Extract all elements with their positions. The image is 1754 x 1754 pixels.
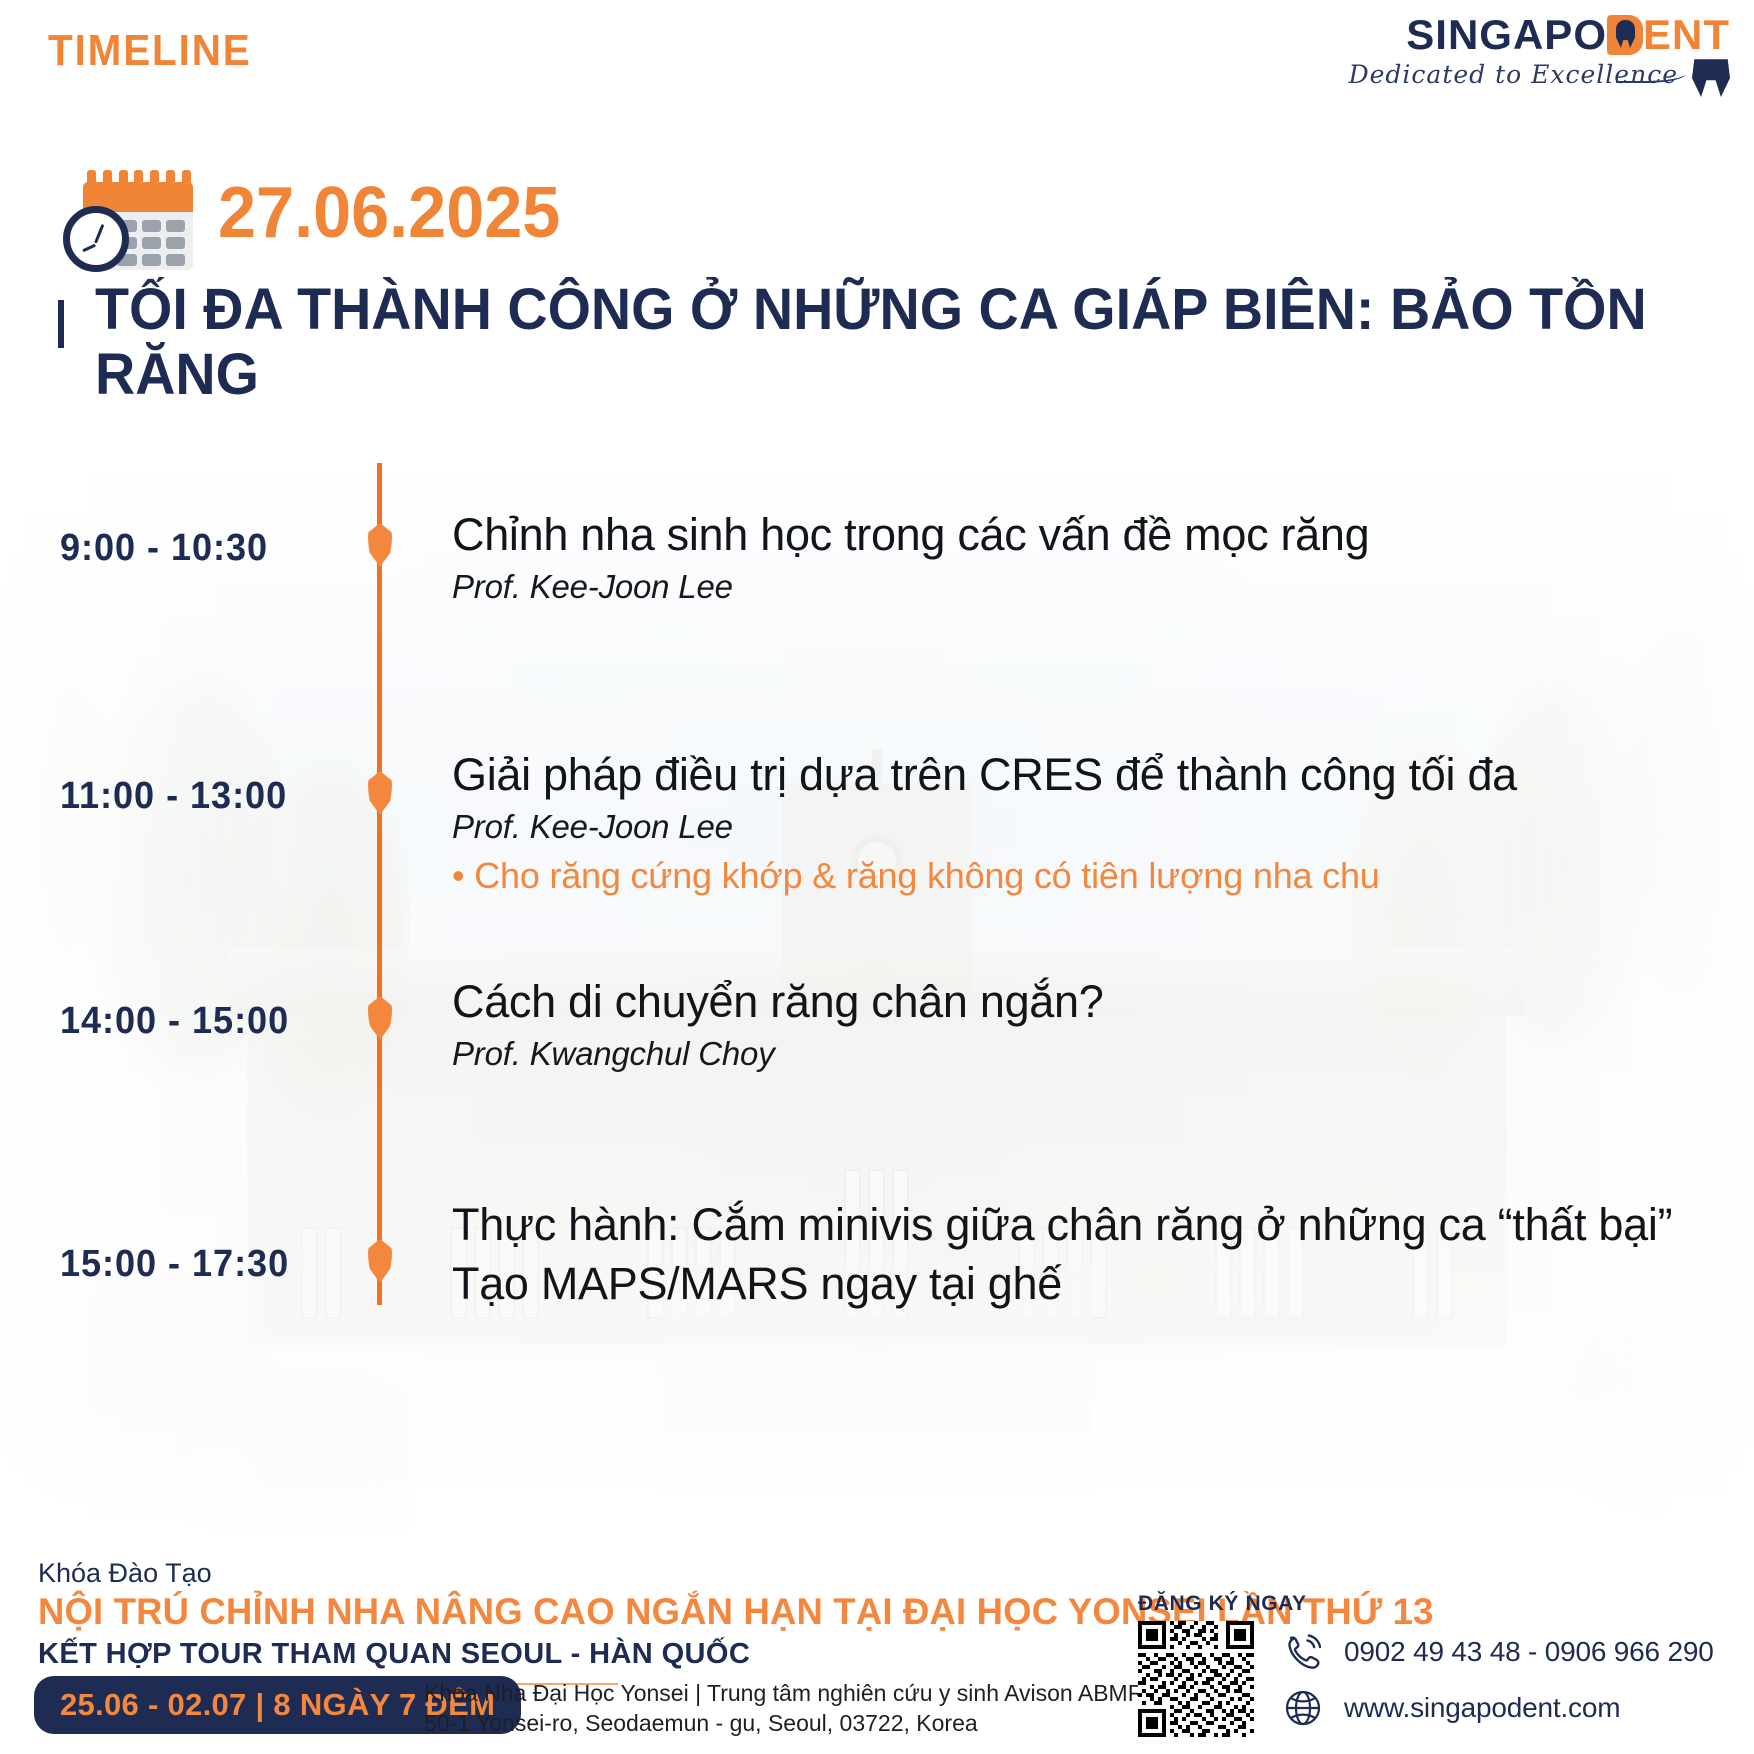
venue-address: Khoa Nha Đại Học Yonsei | Trung tâm nghi… [424, 1678, 1161, 1739]
timeline-content: Cách di chuyển răng chân ngắn? Prof. Kwa… [452, 972, 1722, 1076]
page-title: TỐI ĐA THÀNH CÔNG Ở NHỮNG CA GIÁP BIÊN: … [95, 278, 1650, 408]
qr-code-icon[interactable] [1138, 1621, 1254, 1737]
footer-kicker: Khóa Đào Tạo [38, 1558, 212, 1589]
contact-phone-row[interactable]: 0902 49 43 48 - 0906 966 290 [1280, 1624, 1714, 1680]
session-speaker: Prof. Kee-Joon Lee [452, 806, 1722, 849]
contact-website-row[interactable]: www.singapodent.com [1280, 1680, 1714, 1736]
logo-tagline-wrap: Dedicated to Excellence [1260, 60, 1730, 89]
phone-icon [1280, 1629, 1326, 1675]
session-note: • Cho răng cứng khớp & răng không có tiê… [452, 853, 1722, 900]
session-speaker: Prof. Kee-Joon Lee [452, 566, 1722, 609]
session-title: Cách di chuyển răng chân ngắn? [452, 972, 1722, 1031]
logo-name-dark: SINGAPO [1406, 11, 1607, 58]
brand-logo: SINGAPOENT Dedicated to Excellence [1260, 14, 1730, 89]
calendar-clock-icon [53, 168, 193, 273]
session-title: Chỉnh nha sinh học trong các vấn đề mọc … [452, 505, 1722, 564]
logo-name-orange: ENT [1643, 11, 1730, 58]
title-accent-bar [58, 300, 64, 348]
website-url: www.singapodent.com [1344, 1692, 1620, 1724]
contact-rows: 0902 49 43 48 - 0906 966 290 www.singapo… [1280, 1624, 1714, 1736]
tooth-icon-large [1692, 55, 1730, 97]
logo-wordmark: SINGAPOENT [1260, 14, 1730, 56]
session-speaker: Prof. Kwangchul Choy [452, 1033, 1722, 1076]
timeline-time: 14:00 - 15:00 [60, 1000, 336, 1043]
tooth-icon [1607, 15, 1643, 55]
register-label: ĐĂNG KÝ NGAY [1138, 1592, 1307, 1616]
session-title: Thực hành: Cắm minivis giữa chân răng ở … [452, 1195, 1722, 1314]
footer-subtitle: KẾT HỢP TOUR THAM QUAN SEOUL - HÀN QUỐC [38, 1638, 750, 1671]
address-line-1: Khoa Nha Đại Học Yonsei | Trung tâm nghi… [424, 1678, 1161, 1708]
timeline-content: Thực hành: Cắm minivis giữa chân răng ở … [452, 1195, 1722, 1314]
timeline-content: Chỉnh nha sinh học trong các vấn đề mọc … [452, 505, 1722, 609]
event-date: 27.06.2025 [218, 172, 560, 254]
address-line-2: 50-1 Yonsei-ro, Seodaemun - gu, Seoul, 0… [424, 1708, 1161, 1738]
timeline-time: 15:00 - 17:30 [60, 1243, 336, 1286]
timeline-marker-icon [368, 996, 392, 1040]
timeline-content: Giải pháp điều trị dựa trên CRES để thàn… [452, 745, 1722, 900]
page-kicker: TIMELINE [48, 26, 252, 76]
phone-number: 0902 49 43 48 - 0906 966 290 [1344, 1636, 1714, 1668]
timeline-time: 9:00 - 10:30 [60, 527, 336, 570]
timeline-marker-icon [368, 1239, 392, 1283]
globe-icon [1280, 1685, 1326, 1731]
timeline-marker-icon [368, 523, 392, 567]
timeline-axis [377, 463, 382, 1305]
timeline-marker-icon [368, 771, 392, 815]
timeline-time: 11:00 - 13:00 [60, 775, 336, 818]
session-title: Giải pháp điều trị dựa trên CRES để thàn… [452, 745, 1722, 804]
